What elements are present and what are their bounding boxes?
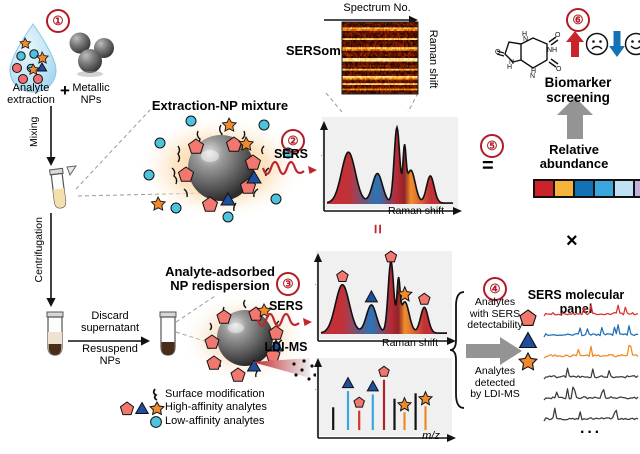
abundance-swatch-5 xyxy=(634,180,640,197)
sers-wave-arrow-icon-step2 xyxy=(261,162,321,182)
svg-text:O: O xyxy=(556,66,562,73)
abundance-swatch-3 xyxy=(594,180,614,197)
panel-ellipsis: ··· xyxy=(556,424,626,442)
extraction-np-mixture-title: Extraction-NP mixture xyxy=(132,99,308,113)
relative-abundance-label: Relative abundance xyxy=(517,143,631,171)
sersome-heatmap xyxy=(342,22,418,94)
relative-abundance-colorbar xyxy=(533,179,640,198)
spectrum3-x-axis-label: m/z xyxy=(406,430,456,442)
svg-text:H: H xyxy=(531,68,536,75)
equals-black-operator: = xyxy=(482,155,494,178)
sers-label-step3: SERS xyxy=(257,300,315,314)
legend-item-high-affinity-label: High-affinity analytes xyxy=(165,401,325,413)
spectrum2-axes xyxy=(310,251,458,349)
spectrum1-axes xyxy=(316,117,464,219)
svg-text:NH: NH xyxy=(547,47,557,54)
svg-text:N: N xyxy=(523,36,528,43)
figure-canvas: ① Analyte extraction + Metallic NPs Mixi… xyxy=(0,0,640,454)
happy-face-icon xyxy=(624,32,640,56)
step-number-3: ③ xyxy=(276,272,300,296)
panel-marker-triangle-icon xyxy=(518,330,538,350)
abundance-swatch-1 xyxy=(554,180,574,197)
spectrum1-x-axis-label: Raman shift xyxy=(370,206,462,218)
sers-label-step2: SERS xyxy=(262,148,320,162)
abundance-swatch-0 xyxy=(534,180,554,197)
biomarker-up-arrow-icon xyxy=(565,30,585,58)
biomarker-screening-label: Biomarker screening xyxy=(520,76,636,105)
legend-high-affinity-analytes-icon xyxy=(120,401,164,415)
sersome-y-axis-label: Raman shift xyxy=(427,21,439,97)
sers-molecular-panel-traces xyxy=(544,300,638,426)
svg-text:O: O xyxy=(555,32,561,39)
legend-item-surface-modification-label: Surface modification xyxy=(165,388,325,400)
abundance-swatch-4 xyxy=(614,180,634,197)
spectrum2-x-axis-label: Raman shift xyxy=(364,338,456,350)
svg-text:N: N xyxy=(509,59,514,66)
sad-face-icon xyxy=(585,32,609,56)
sers-wave-arrow-icon-step3 xyxy=(256,314,316,334)
sersome-x-axis-label: Spectrum No. xyxy=(322,2,432,14)
abundance-swatch-2 xyxy=(574,180,594,197)
equals-red-operator: = xyxy=(367,224,387,234)
sersome-label: SERSome xyxy=(272,44,348,58)
legend-item-low-affinity-label: Low-affinity analytes xyxy=(165,415,325,427)
legend-surface-modification-icon xyxy=(151,388,163,400)
svg-text:O: O xyxy=(495,49,501,56)
panel-marker-pentagon-icon xyxy=(518,308,538,328)
step4-arrow-icon xyxy=(466,336,524,366)
panel-marker-star-icon xyxy=(518,352,538,372)
times-operator: × xyxy=(566,230,578,253)
legend-low-affinity-analytes-icon xyxy=(149,415,163,429)
